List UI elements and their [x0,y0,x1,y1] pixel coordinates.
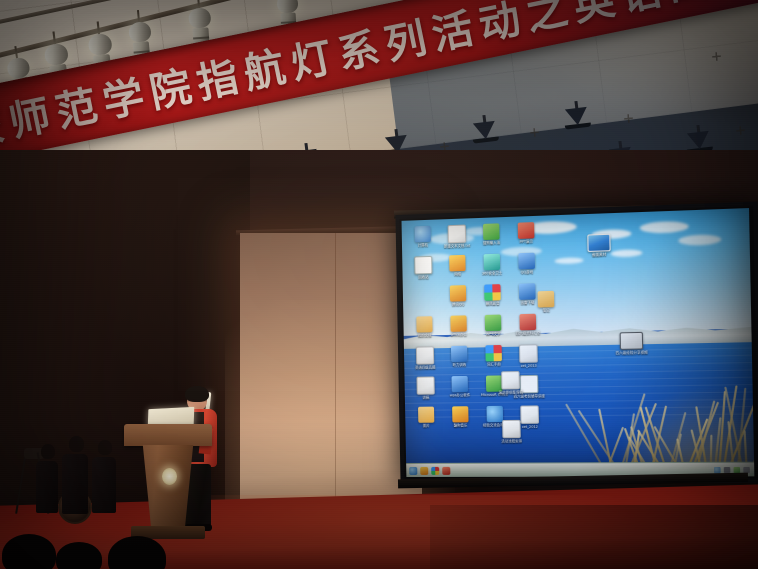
desktop-icon-14[interactable]: WPS文字 [476,314,511,336]
orange-icon [450,285,466,302]
desktop-icon-21[interactable]: wps办公软件 [442,376,477,398]
desktop-icon-24[interactable]: 图片 [409,406,443,428]
doc-icon [501,371,520,390]
desktop-icon-label: 我的文档 [408,333,442,338]
white-sq-icon [414,256,432,275]
stage-presentation-photo: 庆师范学院指航灯系列活动之英语四六级经验 计算机新建文本文档.txt搜狗输入法P… [0,0,758,569]
audience-silhouette [56,542,102,569]
desktop-icon-label: 四六级经验分享视频 [614,350,650,355]
bell-light-7 [565,107,591,130]
desktop-icon-label: 词汇手册 [477,362,512,367]
backdrop-panel [240,233,422,518]
desktop-icon-15[interactable]: 四六级资料汇总 [510,314,545,336]
desktop-icon-label: office办公 [442,332,476,337]
desktop-icon-label: 酷狗音乐 [443,423,477,428]
desktop-icon-label: WPS文字 [476,332,511,337]
multi-icon [485,345,502,362]
podium-top-surface [124,424,212,446]
desktop-icon-label: 腾讯QQ [441,302,475,307]
desktop-icon-label: wps办公软件 [443,393,477,398]
desktop-icon-9[interactable]: 腾讯QQ [441,285,476,307]
volume-icon[interactable] [724,466,731,472]
desktop-icon-plan[interactable]: 活动流程安排 [494,420,529,444]
crew-member [36,444,60,514]
network-icon[interactable] [714,466,721,472]
crew-member [92,440,118,516]
ceiling-vent-icon [711,51,721,61]
blue-icon [452,376,468,392]
desktop-icon-label: 图片 [409,424,443,429]
multi-icon [484,284,501,301]
desktop-icon-5[interactable]: 回收站 [406,256,440,280]
desktop-icon-label: 四六级考前辅导讲座 [512,394,547,399]
folder-icon [416,316,432,332]
monitor-icon [620,332,644,350]
podium-body [138,445,198,529]
desktop-icon-13[interactable]: office办公 [441,315,476,337]
ie-icon [415,226,431,243]
doc-icon [416,346,434,364]
desktop-icon-2[interactable]: 新建文本文档.txt [440,224,475,249]
desktop-icon-video[interactable]: 四六级经验分享视频 [613,332,649,356]
desktop-icon-1[interactable]: 计算机 [406,225,440,247]
folder-icon [538,291,555,308]
shield-icon[interactable] [733,466,740,472]
desktop-icon-19[interactable]: cet_2013 [511,344,546,368]
audience-silhouette [2,534,56,569]
orange-icon [450,315,466,331]
green-icon [483,223,500,240]
pic-icon [587,234,610,252]
orange-icon [452,406,468,422]
doc-icon [502,420,521,438]
podium-emblem [162,468,177,485]
ie-icon[interactable] [409,466,417,474]
desktop-icon-12[interactable]: 我的文档 [407,316,441,338]
desktop-icon-label: 演讲提纲整理稿 [493,390,528,395]
desktop-icon-label: 暴风影音 [475,301,510,306]
desktop-icon-7[interactable]: 360安全卫士 [474,253,509,276]
desktop-icon-screenshot[interactable]: 截图素材 [581,234,617,258]
blue-icon [451,346,467,362]
folder-icon[interactable] [420,466,428,474]
red-icon [518,222,535,239]
desktop-icon-4[interactable]: PPT演示 [508,222,543,245]
desktop-icon-label: 笔记 [529,308,564,313]
doc-icon [448,225,466,244]
ceiling-vent-icon [529,127,539,137]
doc-icon [416,376,434,394]
ceiling-vent-icon [623,113,633,123]
desktop-icon-6[interactable]: 网络 [440,255,475,277]
desktop-icon-label: 听力训练 [442,363,476,368]
desktop-icon-label: 讲稿 [409,395,443,400]
orange-icon [449,255,465,272]
wooden-podium [126,424,210,540]
desktop-icon-8[interactable]: QQ游戏 [509,252,544,275]
carpet-shadow [430,505,758,569]
projected-desktop[interactable]: 计算机新建文本文档.txt搜狗输入法PPT演示回收站网络360安全卫士QQ游戏腾… [402,208,755,477]
projection-screen[interactable]: 计算机新建文本文档.txt搜狗输入法PPT演示回收站网络360安全卫士QQ游戏腾… [395,201,758,483]
ppt-icon[interactable] [442,466,450,474]
presenter-hair [185,386,209,402]
green-icon [485,315,502,332]
desktop-icon-notes[interactable]: 笔记 [528,291,564,314]
media-icon[interactable] [431,466,439,474]
ceiling-vent-icon [735,125,745,135]
red-icon [519,314,536,331]
folder-icon [418,407,434,423]
desktop-icon-label: 四六级资料汇总 [511,331,546,336]
desktop-icon-outline[interactable]: 演讲提纲整理稿 [493,371,528,395]
desktop-icon-3[interactable]: 搜狗输入法 [474,223,509,246]
bell-light-6 [473,121,499,144]
desktop-icon-25[interactable]: 酷狗音乐 [443,406,478,428]
desktop-icon-label: 活动流程安排 [494,439,529,443]
desktop-icon-17[interactable]: 听力训练 [442,345,477,367]
desktop-icon-label: cet_2013 [511,363,546,368]
taskbar-quicklaunch[interactable] [406,466,450,474]
desktop-icon-20[interactable]: 讲稿 [408,376,442,400]
wallpaper-grass-foreground [596,371,754,468]
desktop-icon-10[interactable]: 暴风影音 [475,284,510,306]
taskbar-system-tray[interactable] [714,466,754,472]
teal-icon [484,254,501,271]
desktop-icon-18[interactable]: 词汇手册 [476,345,511,367]
desktop-icon-label: 英语四级真题 [408,365,442,370]
desktop-icon-16[interactable]: 英语四级真题 [408,346,442,370]
crew-member [62,436,90,516]
blue-icon [518,253,535,270]
doc-icon [519,344,538,363]
